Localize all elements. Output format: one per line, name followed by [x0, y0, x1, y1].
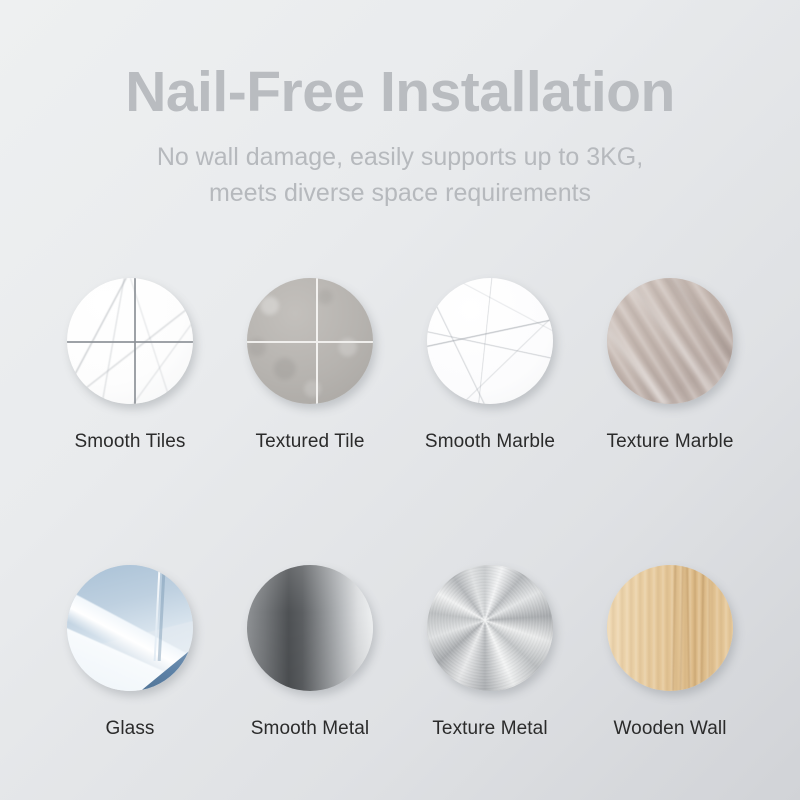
surface-label: Texture Metal	[432, 718, 547, 740]
textured-tile-swatch-icon	[247, 278, 373, 404]
surface-item-smooth-tiles: Smooth Tiles	[40, 278, 220, 453]
infographic-page: Nail-Free Installation No wall damage, e…	[0, 0, 800, 800]
surface-label: Smooth Metal	[251, 718, 369, 740]
surface-label: Wooden Wall	[613, 718, 726, 740]
surface-item-wooden-wall: Wooden Wall	[580, 565, 760, 740]
smooth-tiles-swatch-icon	[67, 278, 193, 404]
surface-label: Texture Marble	[606, 431, 733, 453]
subtitle-line-1: No wall damage, easily supports up to 3K…	[90, 140, 710, 176]
surface-item-smooth-metal: Smooth Metal	[220, 565, 400, 740]
glass-swatch-icon	[67, 565, 193, 691]
surface-label: Textured Tile	[255, 431, 364, 453]
page-subtitle: No wall damage, easily supports up to 3K…	[90, 140, 710, 211]
smooth-marble-swatch-icon	[427, 278, 553, 404]
surface-item-texture-marble: Texture Marble	[580, 278, 760, 453]
subtitle-line-2: meets diverse space requirements	[90, 176, 710, 212]
header-block: Nail-Free Installation No wall damage, e…	[0, 62, 800, 211]
surface-item-glass: Glass	[40, 565, 220, 740]
texture-marble-swatch-icon	[607, 278, 733, 404]
surface-item-texture-metal: Texture Metal	[400, 565, 580, 740]
texture-metal-swatch-icon	[427, 565, 553, 691]
surface-item-smooth-marble: Smooth Marble	[400, 278, 580, 453]
surface-item-textured-tile: Textured Tile	[220, 278, 400, 453]
surface-label: Glass	[105, 718, 154, 740]
surface-label: Smooth Marble	[425, 431, 555, 453]
surface-grid: Smooth Tiles Textured Tile Smooth Marble	[40, 278, 760, 740]
wooden-wall-swatch-icon	[607, 565, 733, 691]
surface-label: Smooth Tiles	[74, 431, 185, 453]
page-title: Nail-Free Installation	[0, 62, 800, 122]
smooth-metal-swatch-icon	[247, 565, 373, 691]
